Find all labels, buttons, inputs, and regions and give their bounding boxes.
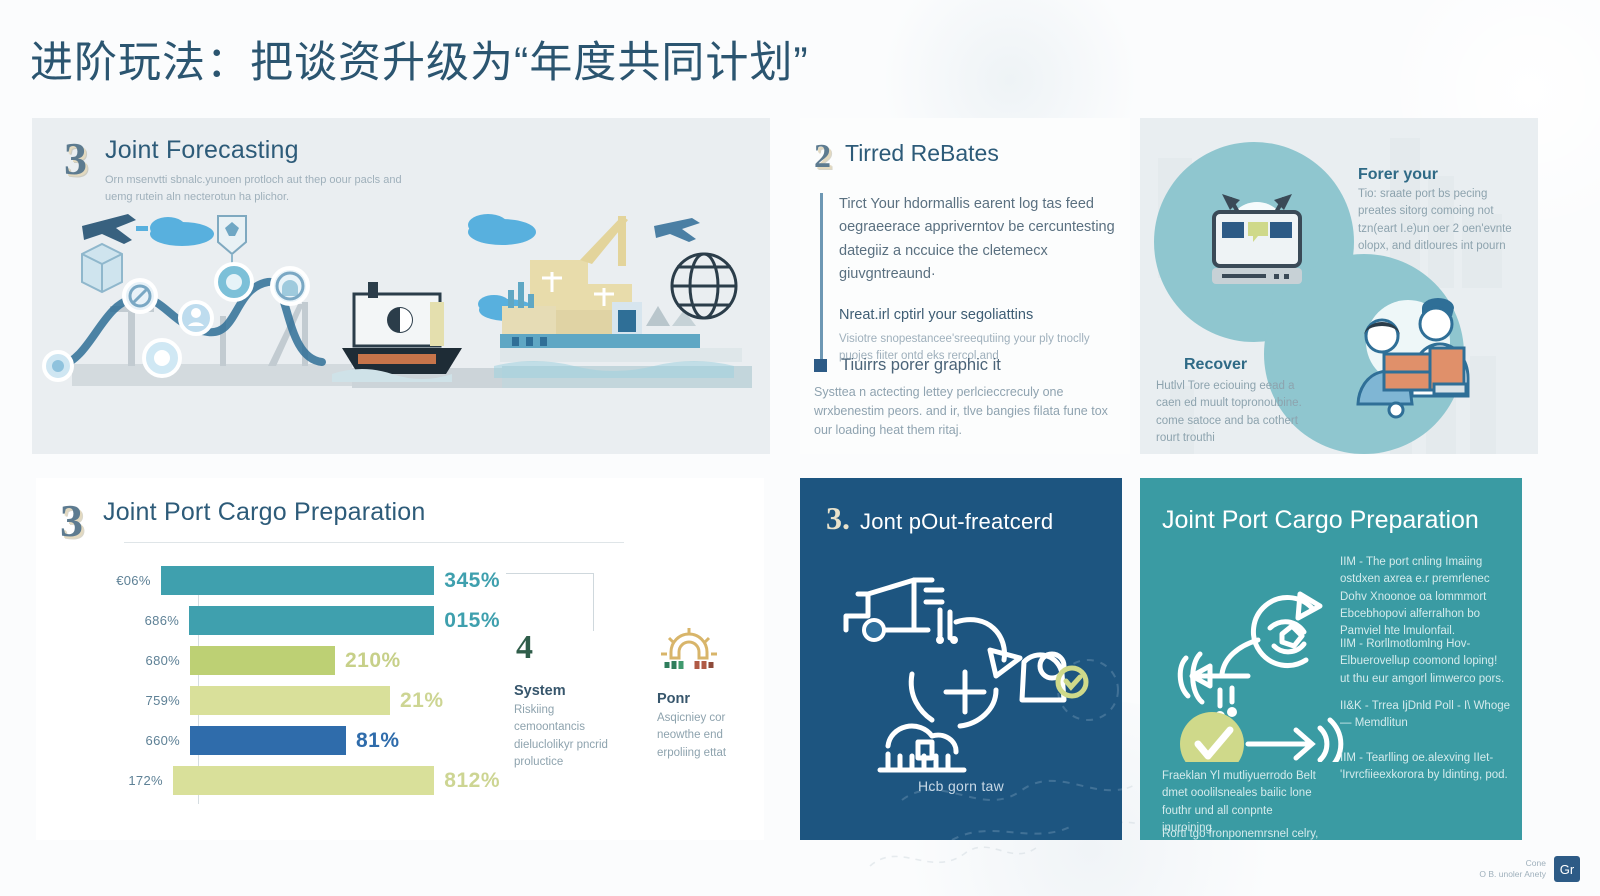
rebates-paragraph: Tirct Your hdormallis earent log tas fee…: [839, 193, 1116, 287]
bar: [161, 566, 435, 595]
bar-category-label: 172%: [60, 773, 173, 788]
bar: [190, 686, 390, 715]
rebates-bullet-body: Systtea n actecting lettey perlcieccrecu…: [814, 383, 1124, 440]
legend-connector-line: [506, 573, 594, 631]
forecasting-header: 3 Joint Forecasting Orn msenvtti sbnalc.…: [64, 136, 405, 205]
bar-row: €06%345%: [60, 566, 500, 595]
teal-right-body-2: IIM - Rorllmotlomlng Hov- Elbuerovellup …: [1340, 636, 1510, 688]
flow-caption: Hcb gorn taw: [800, 778, 1122, 794]
bar-value-label: 345%: [444, 569, 500, 593]
card-recover: Forer your Tio: sraate port bs pecing pr…: [1140, 118, 1538, 454]
svg-text:4: 4: [516, 629, 533, 666]
step-number-badge: 2: [814, 140, 831, 174]
recover-body-2: Hutlvl Tore eciouing eead a caen ed muul…: [1156, 378, 1316, 447]
rebates-subheading: Nreat.irl cptirl your segoliattins: [839, 305, 1116, 327]
page-title: 进阶玩法：把谈资升级为“年度共同计划”: [30, 28, 809, 90]
teal-right-body-4: IIM - Tearlling oe.alexving IIet- 'Irvrc…: [1340, 750, 1515, 785]
teal-right-body-3: II&K - Trrea IjDnld Poll - I\ Whoge — Me…: [1340, 698, 1520, 733]
bar-value-label: 210%: [345, 649, 401, 673]
chart-legend: 4 System Riskiing cemoontancis dieluclol…: [514, 628, 754, 771]
monitor-robot-icon: [1196, 176, 1318, 298]
legend-body: Riskiing cemoontancis dieluclolikyr pncr…: [514, 702, 611, 771]
title-divider: [124, 542, 624, 543]
recycle-flow-icon: [1162, 562, 1352, 762]
legend-item-system: 4 System Riskiing cemoontancis dieluclol…: [514, 628, 611, 771]
bar-category-label: 680%: [60, 653, 190, 668]
bar-row: 660%81%: [60, 726, 500, 755]
step-number-badge: 3: [64, 136, 87, 182]
legend-body: Asqicniey cor neowthe end erpoliing etta…: [657, 710, 754, 762]
flow-title: Jont pOut-freatcerd: [860, 509, 1053, 535]
bar-value-label: 81%: [356, 729, 400, 753]
teal-left-body-2: Rorti tgo fronponemrsnel celry,: [1162, 826, 1322, 840]
horizontal-bar-chart: €06%345%686%015%680%210%759%21%660%81%17…: [60, 566, 500, 806]
footer-text: Cone O B. unoler Anety: [1479, 858, 1546, 881]
teal-card-title: Joint Port Cargo Preparation: [1162, 506, 1479, 535]
bar: [173, 766, 434, 795]
card-joint-forecasting: 3 Joint Forecasting Orn msenvtti sbnalc.…: [32, 118, 770, 454]
hub-emblem-icon: [657, 628, 721, 676]
rebates-bullet-block: Tiuirrs porer graphic it Systtea n actec…: [814, 356, 1124, 440]
cube-icon: 4: [514, 628, 556, 668]
step-number-badge: 3: [60, 498, 83, 544]
bar-category-label: 660%: [60, 733, 190, 748]
bar-row: 686%015%: [60, 606, 500, 635]
bar-value-label: 015%: [444, 609, 500, 633]
rebates-bullet-title: Tiuirrs porer graphic it: [841, 356, 1001, 375]
logistics-illustration: [32, 198, 770, 398]
chart-header: 3 Joint Port Cargo Preparation: [60, 498, 425, 544]
legend-heading: Ponr: [657, 691, 754, 707]
legend-heading: System: [514, 683, 611, 699]
bar-row: 680%210%: [60, 646, 500, 675]
bar: [190, 646, 335, 675]
rebates-header: 2 Tirred ReBates: [814, 140, 999, 174]
footer-branding: Cone O B. unoler Anety Gr: [1479, 856, 1580, 882]
chart-title: Joint Port Cargo Preparation: [103, 498, 425, 527]
recover-heading-2: Recover: [1184, 356, 1247, 374]
rebates-quote-block: Tirct Your hdormallis earent log tas fee…: [820, 193, 1116, 365]
bar: [189, 606, 434, 635]
bar-category-label: 686%: [60, 613, 189, 628]
bar: [190, 726, 346, 755]
bar-category-label: €06%: [60, 573, 161, 588]
card-port-cargo-chart: 3 Joint Port Cargo Preparation €06%345%6…: [36, 478, 764, 840]
flow-illustration: [828, 550, 1094, 780]
bullet-square-icon: [814, 359, 827, 372]
recover-body-1: Tio: sraate port bs pecing preates sitor…: [1358, 186, 1518, 255]
teal-right-body-1: IIM - The port cnling Imaiing ostdxen ax…: [1340, 554, 1510, 640]
card-teal-port-cargo: Joint Port Cargo Preparation Fraeklan: [1140, 478, 1522, 840]
bar-category-label: 759%: [60, 693, 190, 708]
forecasting-title: Joint Forecasting: [105, 136, 405, 165]
footer-line-1: Cone: [1479, 858, 1546, 869]
bar-row: 759%21%: [60, 686, 500, 715]
brand-logo: Gr: [1554, 856, 1580, 882]
card-tirred-rebates: 2 Tirred ReBates Tirct Your hdormallis e…: [800, 118, 1130, 454]
people-package-icon: [1336, 284, 1476, 424]
bar-row: 172%812%: [60, 766, 500, 795]
recover-heading-1: Forer your: [1358, 166, 1438, 184]
flow-number: 3.: [826, 500, 850, 537]
flow-header: 3. Jont pOut-freatcerd: [826, 500, 1053, 537]
bar-value-label: 812%: [444, 769, 500, 793]
footer-line-2: O B. unoler Anety: [1479, 869, 1546, 880]
bar-value-label: 21%: [400, 689, 444, 713]
card-joint-outbound-flow: 3. Jont pOut-freatcerd: [800, 478, 1122, 840]
legend-item-ponr: Ponr Asqicniey cor neowthe end erpoliing…: [657, 628, 754, 771]
rebates-title: Tirred ReBates: [845, 140, 999, 167]
